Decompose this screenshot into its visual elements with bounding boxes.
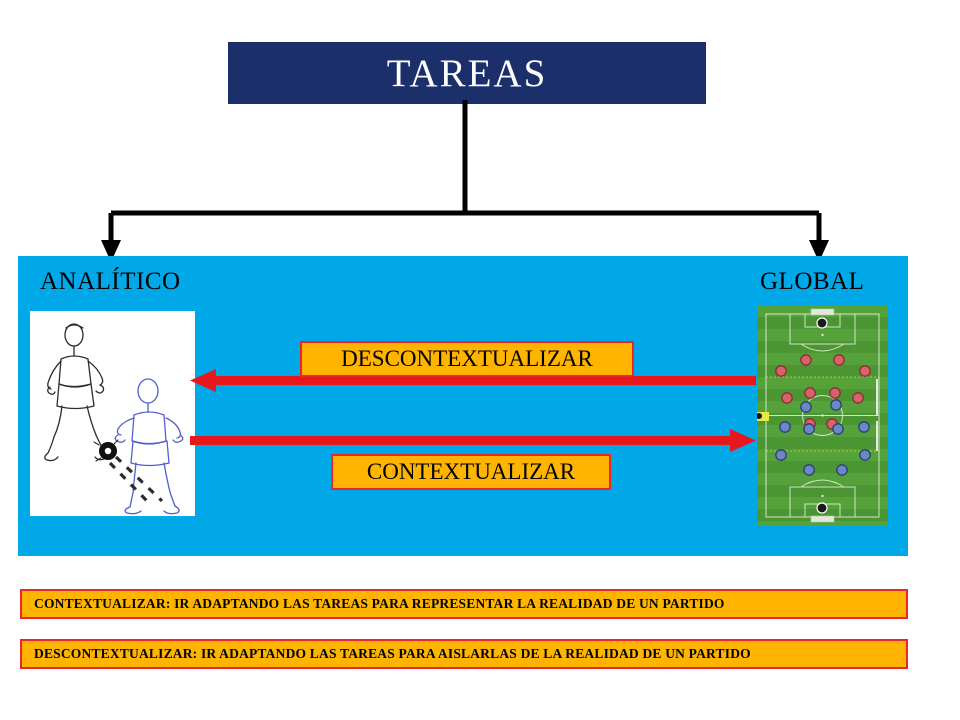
caption-descontextualizar: DESCONTEXTUALIZAR: IR ADAPTANDO LAS TARE… — [20, 639, 908, 669]
caption-contextualizar: CONTEXTUALIZAR: IR ADAPTANDO LAS TAREAS … — [20, 589, 908, 619]
box-contextualizar: CONTEXTUALIZAR — [331, 454, 611, 490]
box-descontextualizar: DESCONTEXTUALIZAR — [300, 341, 634, 377]
two-players-passing-sketch — [30, 311, 195, 516]
slide-canvas: TAREAS ANALÍTICO GLOBAL — [0, 0, 960, 720]
page-title: TAREAS — [387, 54, 548, 93]
label-global: GLOBAL — [760, 268, 864, 296]
football-pitch-formation-diagram — [757, 305, 888, 526]
title-box: TAREAS — [228, 42, 706, 104]
branch-connector — [100, 100, 830, 265]
label-analitico: ANALÍTICO — [40, 268, 181, 296]
